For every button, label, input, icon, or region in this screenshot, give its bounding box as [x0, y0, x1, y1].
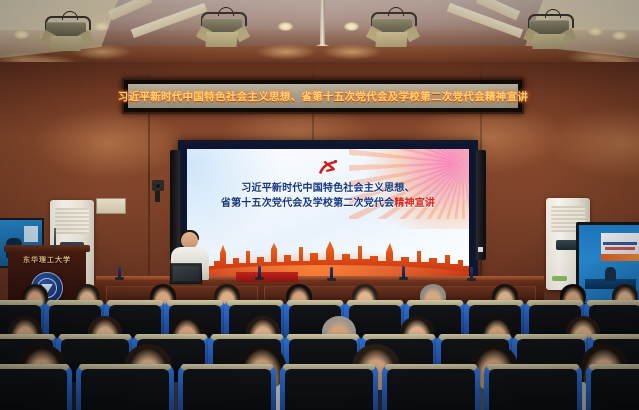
downlight-0	[14, 30, 29, 39]
ac-logo-icon	[552, 276, 567, 281]
tv-slide-title-line	[603, 242, 637, 245]
podium-microphone	[54, 228, 56, 252]
tv-slide-thumb	[601, 233, 639, 261]
tv-slide-accent-line	[605, 247, 635, 250]
projection-screen: 习近平新时代中国特色社会主义思想、 省第十五次党代会及学校第二次党代会精神宣讲	[178, 140, 478, 288]
podium-name-plate: 东华理工大学	[8, 255, 86, 265]
slide-title-line-2-accent: 精神宣讲	[394, 198, 435, 209]
slide-skyline-graphic	[187, 233, 469, 279]
auditorium-seat	[382, 364, 480, 410]
seat-cushion	[387, 369, 475, 410]
lecture-hall-photo: 习近平新时代中国特色社会主义思想、省第十五次党代会及学校第二次党代会精神宣讲	[0, 0, 639, 410]
stage-light-2	[200, 10, 246, 44]
presentation-slide: 习近平新时代中国特色社会主义思想、 省第十五次党代会及学校第二次党代会精神宣讲	[187, 149, 469, 279]
wall-light-pool	[548, 108, 639, 178]
stage-light-4	[527, 12, 573, 46]
auditorium-seat	[178, 364, 276, 410]
microphone-2	[258, 266, 261, 278]
auditorium-seat	[76, 364, 174, 410]
stage-light-3	[370, 10, 416, 44]
downlight-4	[344, 22, 359, 31]
stage-light-1	[44, 14, 90, 48]
auditorium-seat	[280, 364, 378, 410]
wall-camera-icon	[152, 180, 164, 191]
seat-cushion	[81, 369, 169, 410]
seat-cushion	[0, 369, 67, 410]
slide-title-line-1: 习近平新时代中国特色社会主义思想、	[187, 181, 469, 196]
downlight-glow-3	[256, 44, 316, 60]
microphone-4	[402, 266, 405, 278]
auditorium-seat	[586, 364, 639, 410]
downlight-5	[588, 27, 603, 36]
led-banner-text: 习近平新时代中国特色社会主义思想、省第十五次党代会及学校第二次党代会精神宣讲	[118, 89, 528, 104]
stage-table-red-cloth	[236, 272, 298, 282]
slide-title-block: 习近平新时代中国特色社会主义思想、 省第十五次党代会及学校第二次党代会精神宣讲	[187, 181, 469, 211]
wall-camera-mount	[155, 191, 160, 202]
wall-control-plate	[96, 198, 126, 214]
stage-table-top	[96, 276, 544, 280]
auditorium-seat	[0, 364, 72, 410]
downlight-glow-4	[322, 44, 382, 60]
presenter-at-table	[168, 232, 212, 282]
auditorium-seat	[484, 364, 582, 410]
seat-cushion	[285, 369, 373, 410]
slide-title-line-2: 省第十五次党代会及学校第二次党代会精神宣讲	[187, 196, 469, 211]
party-emblem-icon	[315, 158, 341, 178]
ac-vent-icon	[55, 208, 89, 234]
podium-top	[4, 245, 90, 252]
stage-light-lens	[205, 32, 237, 47]
laptop-screen	[173, 266, 199, 281]
tv-slide-skyline	[601, 254, 639, 261]
seat-cushion	[183, 369, 271, 410]
tv-person	[605, 267, 616, 281]
seat-cushion	[489, 369, 577, 410]
led-banner: 习近平新时代中国特色社会主义思想、省第十五次党代会及学校第二次党代会精神宣讲	[122, 78, 524, 114]
audience-area	[0, 282, 639, 410]
microphone-5	[470, 267, 473, 279]
presenter-laptop	[170, 263, 203, 284]
downlight-3	[278, 22, 293, 31]
slide-title-line-2-main: 省第十五次党代会及学校第二次党代会	[221, 198, 394, 209]
microphone-3	[330, 267, 333, 279]
downlight-2	[94, 22, 109, 31]
wall-light-pool	[34, 108, 184, 178]
downlight-6	[612, 31, 627, 40]
monitor-bright-area	[24, 226, 38, 242]
stage-light-lens	[375, 32, 407, 47]
stage-light-lens	[532, 34, 564, 49]
seat-cushion	[591, 369, 639, 410]
right-speaker-column	[476, 150, 486, 260]
stage-light-lens	[49, 36, 81, 51]
microphone-0	[118, 266, 121, 278]
led-banner-inner: 习近平新时代中国特色社会主义思想、省第十五次党代会及学校第二次党代会精神宣讲	[128, 84, 518, 108]
ceiling-drop-pipe	[320, 0, 325, 46]
